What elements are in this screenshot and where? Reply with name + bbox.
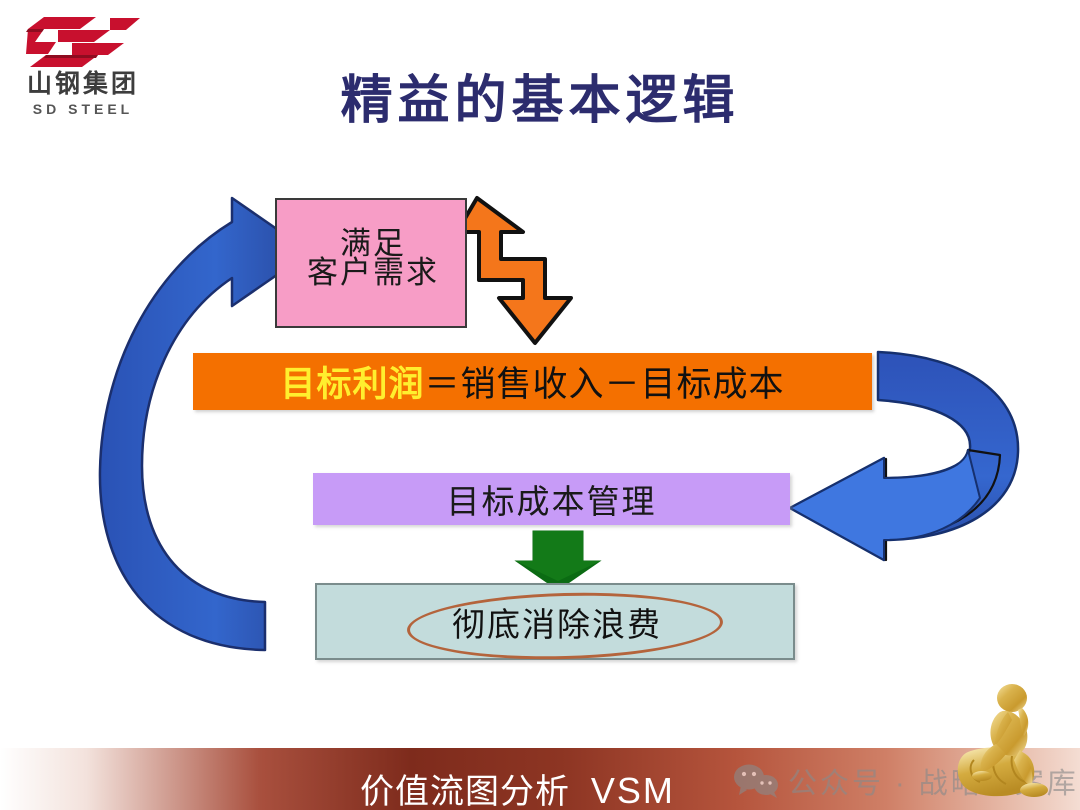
box-customer-line2: 客户需求	[277, 247, 469, 292]
orange-bent-double-arrow-icon	[457, 198, 600, 343]
profit-formula-highlight: 目标利润	[280, 365, 424, 404]
footer-caption-en: VSM	[591, 770, 675, 810]
profit-formula: 目标利润＝销售收入－目标成本	[280, 356, 784, 407]
waste-label: 彻底消除浪费	[317, 598, 797, 646]
wechat-icon	[733, 764, 779, 798]
footer-caption: 价值流图分析 VSM	[360, 764, 675, 810]
box-target-profit-formula[interactable]: 目标利润＝销售收入－目标成本	[193, 353, 872, 410]
slide-canvas: 山钢集团 SD STEEL 精益的基本逻辑	[0, 0, 1080, 810]
green-down-arrow-icon	[516, 531, 600, 590]
cost-management-label: 目标成本管理	[447, 475, 657, 523]
footer-caption-cn: 价值流图分析	[360, 773, 570, 810]
box-eliminate-waste[interactable]: 彻底消除浪费	[315, 583, 795, 660]
profit-formula-rest: ＝销售收入－目标成本	[425, 365, 785, 404]
gold-thinker-statue-icon	[938, 668, 1064, 804]
box-target-cost-management[interactable]: 目标成本管理	[313, 473, 790, 525]
box-satisfy-customer[interactable]: 满足 客户需求	[275, 198, 467, 328]
